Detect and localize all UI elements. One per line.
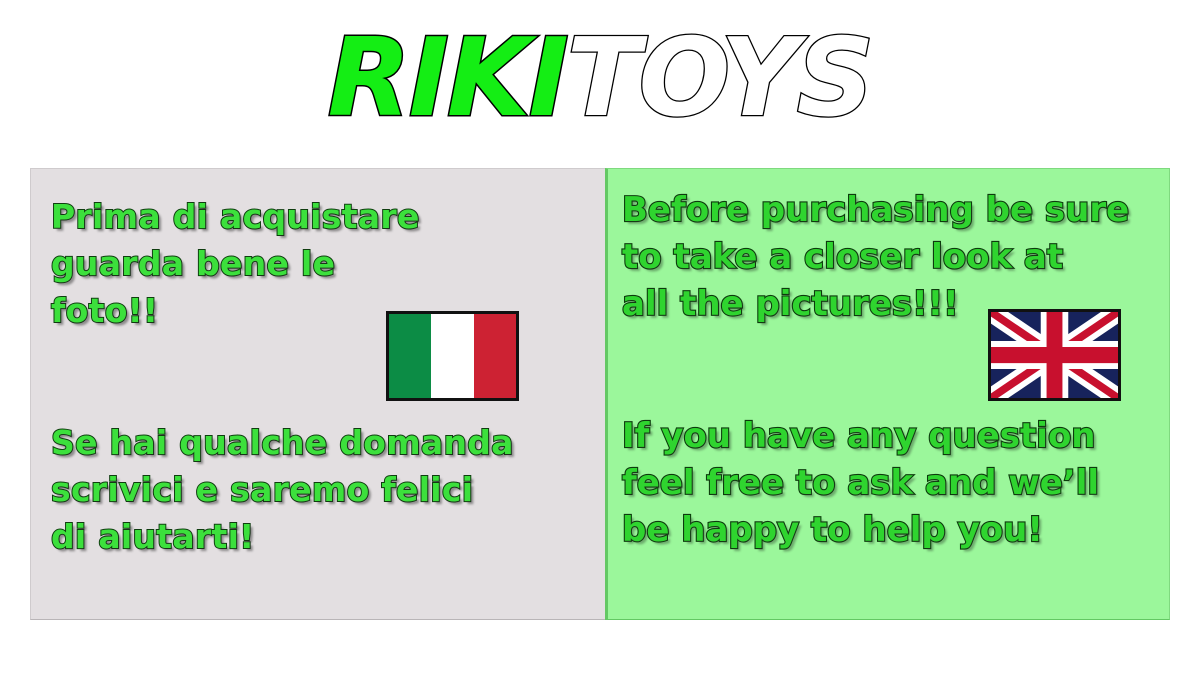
brand-logo: RIKITOYS: [0, 14, 1200, 144]
brand-logo-toys: TOYS: [567, 25, 873, 133]
brand-logo-text: RIKITOYS: [328, 25, 873, 133]
italy-flag-stripe-white: [431, 314, 473, 398]
info-panels: Prima di acquistare guarda bene le foto!…: [30, 168, 1170, 620]
italian-paragraph-1: Prima di acquistare guarda bene le foto!…: [51, 193, 420, 334]
english-info-panel: Before purchasing be sure to take a clos…: [605, 168, 1170, 620]
italian-paragraph-2: Se hai qualche domanda scrivici e saremo…: [51, 419, 514, 560]
italy-flag-stripe-green: [389, 314, 431, 398]
italian-info-panel: Prima di acquistare guarda bene le foto!…: [30, 168, 605, 620]
union-jack-svg: [991, 312, 1118, 398]
brand-logo-riki: RIKI: [328, 25, 567, 133]
english-paragraph-1: Before purchasing be sure to take a clos…: [622, 187, 1129, 328]
italy-flag-icon: [386, 311, 519, 401]
english-paragraph-2: If you have any question feel free to as…: [622, 413, 1099, 554]
united-kingdom-flag-icon: [988, 309, 1121, 401]
italy-flag-stripe-red: [474, 314, 516, 398]
